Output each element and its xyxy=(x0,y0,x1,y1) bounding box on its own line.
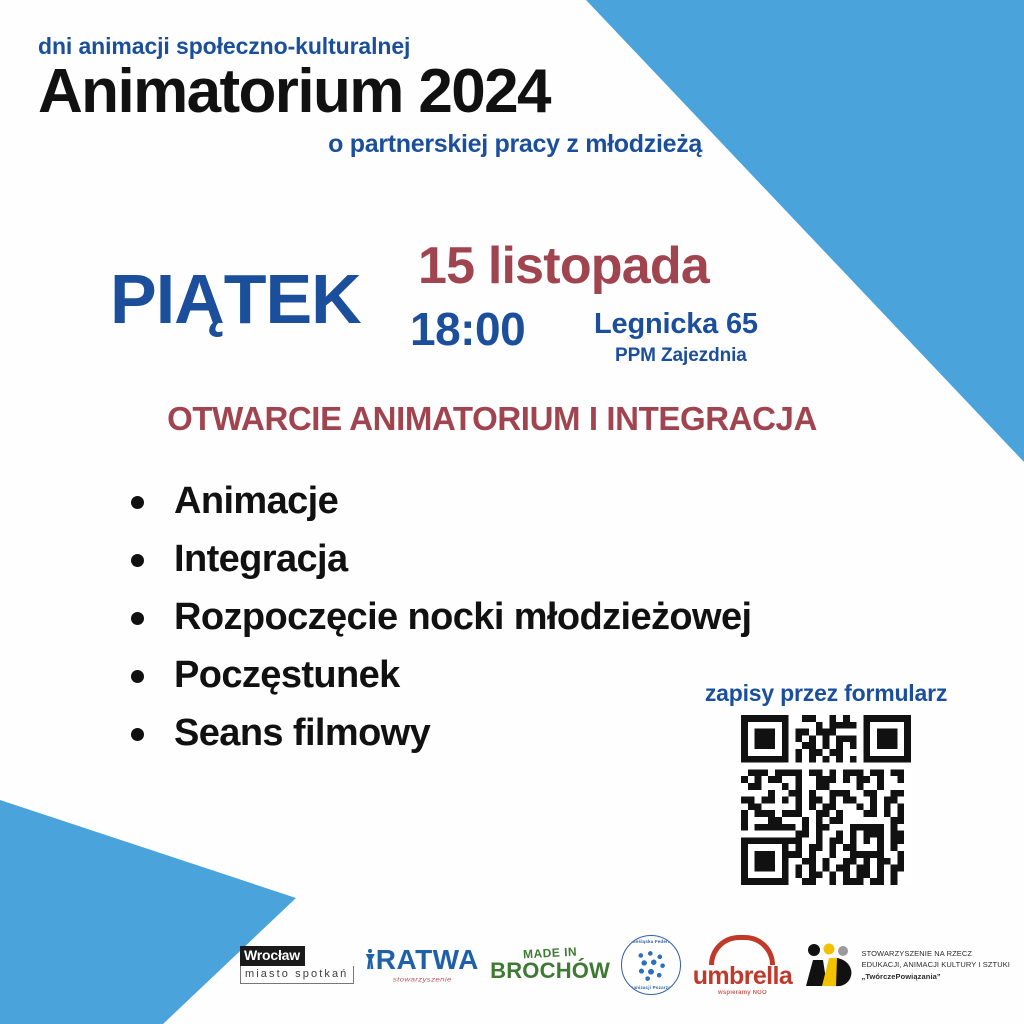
event-time: 18:00 xyxy=(410,306,525,352)
tworcze-text-block: STOWARZYSZENIE NA RZECZ EDUKACJI, ANIMAC… xyxy=(861,948,1010,983)
logo-tratwa-label: RATWA xyxy=(376,946,479,974)
person-figure-icon xyxy=(366,949,375,971)
dfop-ring-bottom: Organizacji Pozarządowych xyxy=(625,985,677,990)
date-time-venue-block: PIĄTEK 15 listopada 18:00 Legnicka 65 PP… xyxy=(0,234,1024,384)
dfop-ring-top: Dolnośląska Federacja xyxy=(625,939,677,944)
list-item: Integracja xyxy=(118,540,898,578)
logo-tworcze-powiazania: STOWARZYSZENIE NA RZECZ EDUKACJI, ANIMAC… xyxy=(803,934,1010,996)
list-item-label: Integracja xyxy=(174,538,348,580)
signup-block: zapisy przez formularz xyxy=(690,682,962,885)
list-item: Animacje xyxy=(118,482,898,520)
umbrella-arc-icon xyxy=(709,935,775,965)
logo-tratwa-tagline: stowarzyszenie xyxy=(393,976,452,984)
partner-logo-strip: Wrocław miasto spotkań RATWA stowarzysze… xyxy=(240,928,1010,1002)
event-subtitle: o partnerskiej pracy z młodzieżą xyxy=(38,131,738,159)
bullet-dot-icon xyxy=(131,496,144,509)
dfop-circle-emblem: Dolnośląska Federacja Organizacji Pozarz… xyxy=(621,935,681,995)
venue-name: PPM Zajezdnia xyxy=(615,346,747,365)
bullet-dot-icon xyxy=(131,728,144,741)
event-kicker: dni animacji społeczno-kulturalnej xyxy=(38,34,738,59)
bullet-dot-icon xyxy=(131,554,144,567)
signup-label: zapisy przez formularz xyxy=(690,682,962,705)
list-item: Rozpoczęcie nocki młodzieżowej xyxy=(118,598,898,636)
logo-wroclaw-name: Wrocław xyxy=(240,946,305,965)
logo-umbrella: umbrella wspieramy NGO xyxy=(693,934,792,996)
dfop-ring-text: Dolnośląska Federacja Organizacji Pozarz… xyxy=(622,936,680,994)
poster-canvas: dni animacji społeczno-kulturalnej Anima… xyxy=(0,0,1024,1024)
tworcze-line1: STOWARZYSZENIE NA RZECZ xyxy=(861,948,1010,960)
qr-code-icon[interactable] xyxy=(741,715,911,885)
logo-dfop: Dolnośląska Federacja Organizacji Pozarz… xyxy=(621,934,681,996)
tworcze-line2: EDUKACJI, ANIMACJI KULTURY I SZTUKI xyxy=(861,959,1010,971)
list-item-label: Animacje xyxy=(174,480,338,522)
logo-tratwa-wordmark: RATWA xyxy=(366,946,479,974)
logo-umbrella-label: umbrella xyxy=(693,964,792,989)
event-date: 15 listopada xyxy=(418,240,709,292)
bullet-dot-icon xyxy=(131,612,144,625)
list-item-label: Rozpoczęcie nocki młodzieżowej xyxy=(174,596,751,638)
logo-made-in-brochow: MADE IN BROCHÓW xyxy=(490,934,610,996)
venue-street: Legnicka 65 xyxy=(594,310,758,339)
page-title: Animatorium 2024 xyxy=(38,60,738,123)
list-item-label: Seans filmowy xyxy=(174,712,430,754)
header-block: dni animacji społeczno-kulturalnej Anima… xyxy=(38,34,738,158)
logo-umbrella-tagline: wspieramy NGO xyxy=(718,990,767,996)
logo-wroclaw: Wrocław miasto spotkań xyxy=(240,934,354,996)
list-item-label: Poczęstunek xyxy=(174,654,400,696)
logo-wroclaw-tagline: miasto spotkań xyxy=(240,966,354,984)
bullet-dot-icon xyxy=(131,670,144,683)
logo-tratwa: RATWA stowarzyszenie xyxy=(366,934,479,996)
logo-brochow-line2: BROCHÓW xyxy=(490,959,610,982)
event-weekday: PIĄTEK xyxy=(110,264,361,334)
tworcze-line3: „TwórczePowiązania” xyxy=(861,971,1010,983)
event-heading: OTWARCIE ANIMATORIUM I INTEGRACJA xyxy=(0,402,1024,435)
tworcze-people-icon xyxy=(803,942,855,988)
logo-brochow-line1: MADE IN xyxy=(523,946,578,961)
